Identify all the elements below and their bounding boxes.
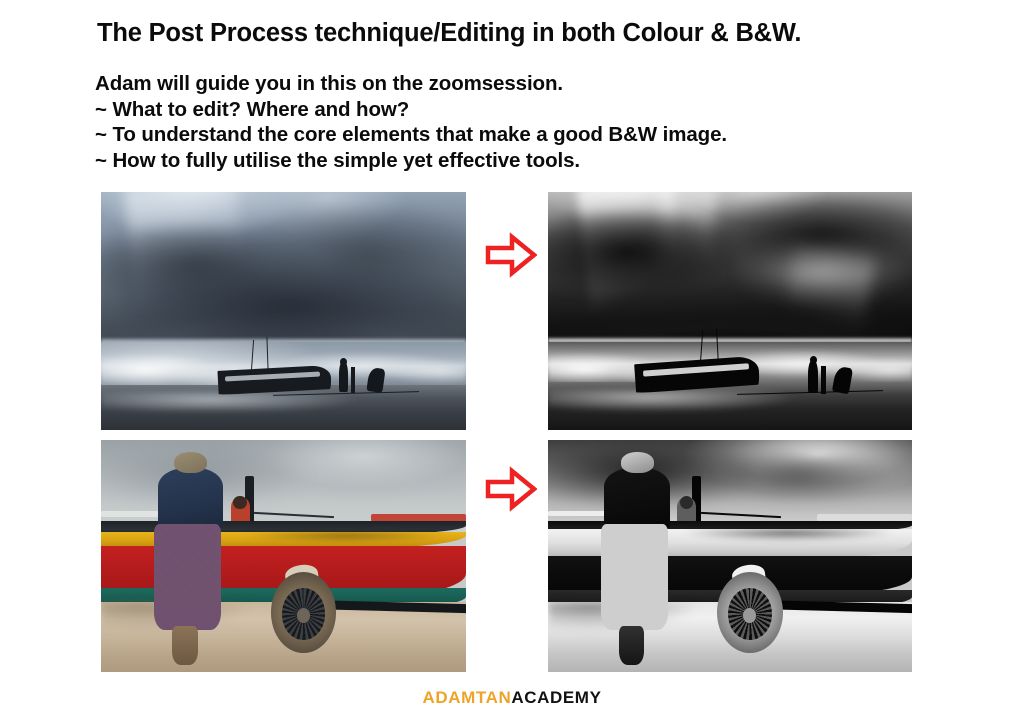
fisherman-torso — [604, 468, 670, 531]
photo-after-row1-content — [548, 192, 912, 430]
figure-standing — [808, 360, 818, 393]
body-line-1: Adam will guide you in this on the zooms… — [95, 71, 727, 97]
cloud-highlight — [737, 240, 904, 302]
photo-before-row2-content — [101, 440, 466, 672]
fisherman-sarong — [154, 524, 222, 631]
cloud-mass-right — [708, 449, 890, 500]
right-arrow-icon-row1 — [485, 232, 537, 278]
photo-before-row1-content — [101, 192, 466, 430]
wet-sand-reflection — [548, 390, 912, 411]
photo-after-row2 — [548, 440, 912, 672]
body-line-2: ~ What to edit? Where and how? — [95, 97, 727, 123]
fisherman-head — [621, 452, 654, 473]
body-line-4: ~ How to fully utilise the simple yet ef… — [95, 148, 727, 174]
right-arrow-glyph — [485, 466, 537, 512]
right-arrow-glyph — [485, 232, 537, 278]
fisherman-legs — [172, 626, 198, 665]
hull-stripe-yellow-weathering — [232, 532, 458, 546]
photo-before-row1 — [101, 192, 466, 430]
description-block: Adam will guide you in this on the zooms… — [95, 71, 727, 173]
slide-canvas: The Post Process technique/Editing in bo… — [0, 0, 1024, 720]
distant-deck-left — [101, 511, 159, 517]
footer-logo: ADAMTANACADEMY — [0, 688, 1024, 708]
cloud-mass-low — [123, 263, 452, 334]
logo-text-secondary: ACADEMY — [511, 688, 601, 707]
body-line-3: ~ To understand the core elements that m… — [95, 122, 727, 148]
tripod-silhouette — [821, 366, 826, 395]
page-title: The Post Process technique/Editing in bo… — [97, 19, 801, 47]
fisherman-head — [174, 452, 207, 473]
distant-deck-left — [548, 511, 606, 517]
fisherman-sarong — [601, 524, 668, 631]
photo-after-row2-content — [548, 440, 912, 672]
boat-wheel-hub — [297, 608, 310, 623]
fisherman-legs — [619, 626, 644, 665]
logo-text-primary: ADAMTAN — [422, 688, 511, 707]
tripod-silhouette — [351, 367, 355, 393]
hull-band-weathering — [672, 529, 905, 545]
photo-after-row1 — [548, 192, 912, 430]
fisherman-torso — [158, 468, 224, 531]
photo-before-row2 — [101, 440, 466, 672]
right-arrow-icon-row2 — [485, 466, 537, 512]
second-fisherman-head — [233, 496, 246, 509]
second-fisherman-head — [680, 496, 693, 509]
